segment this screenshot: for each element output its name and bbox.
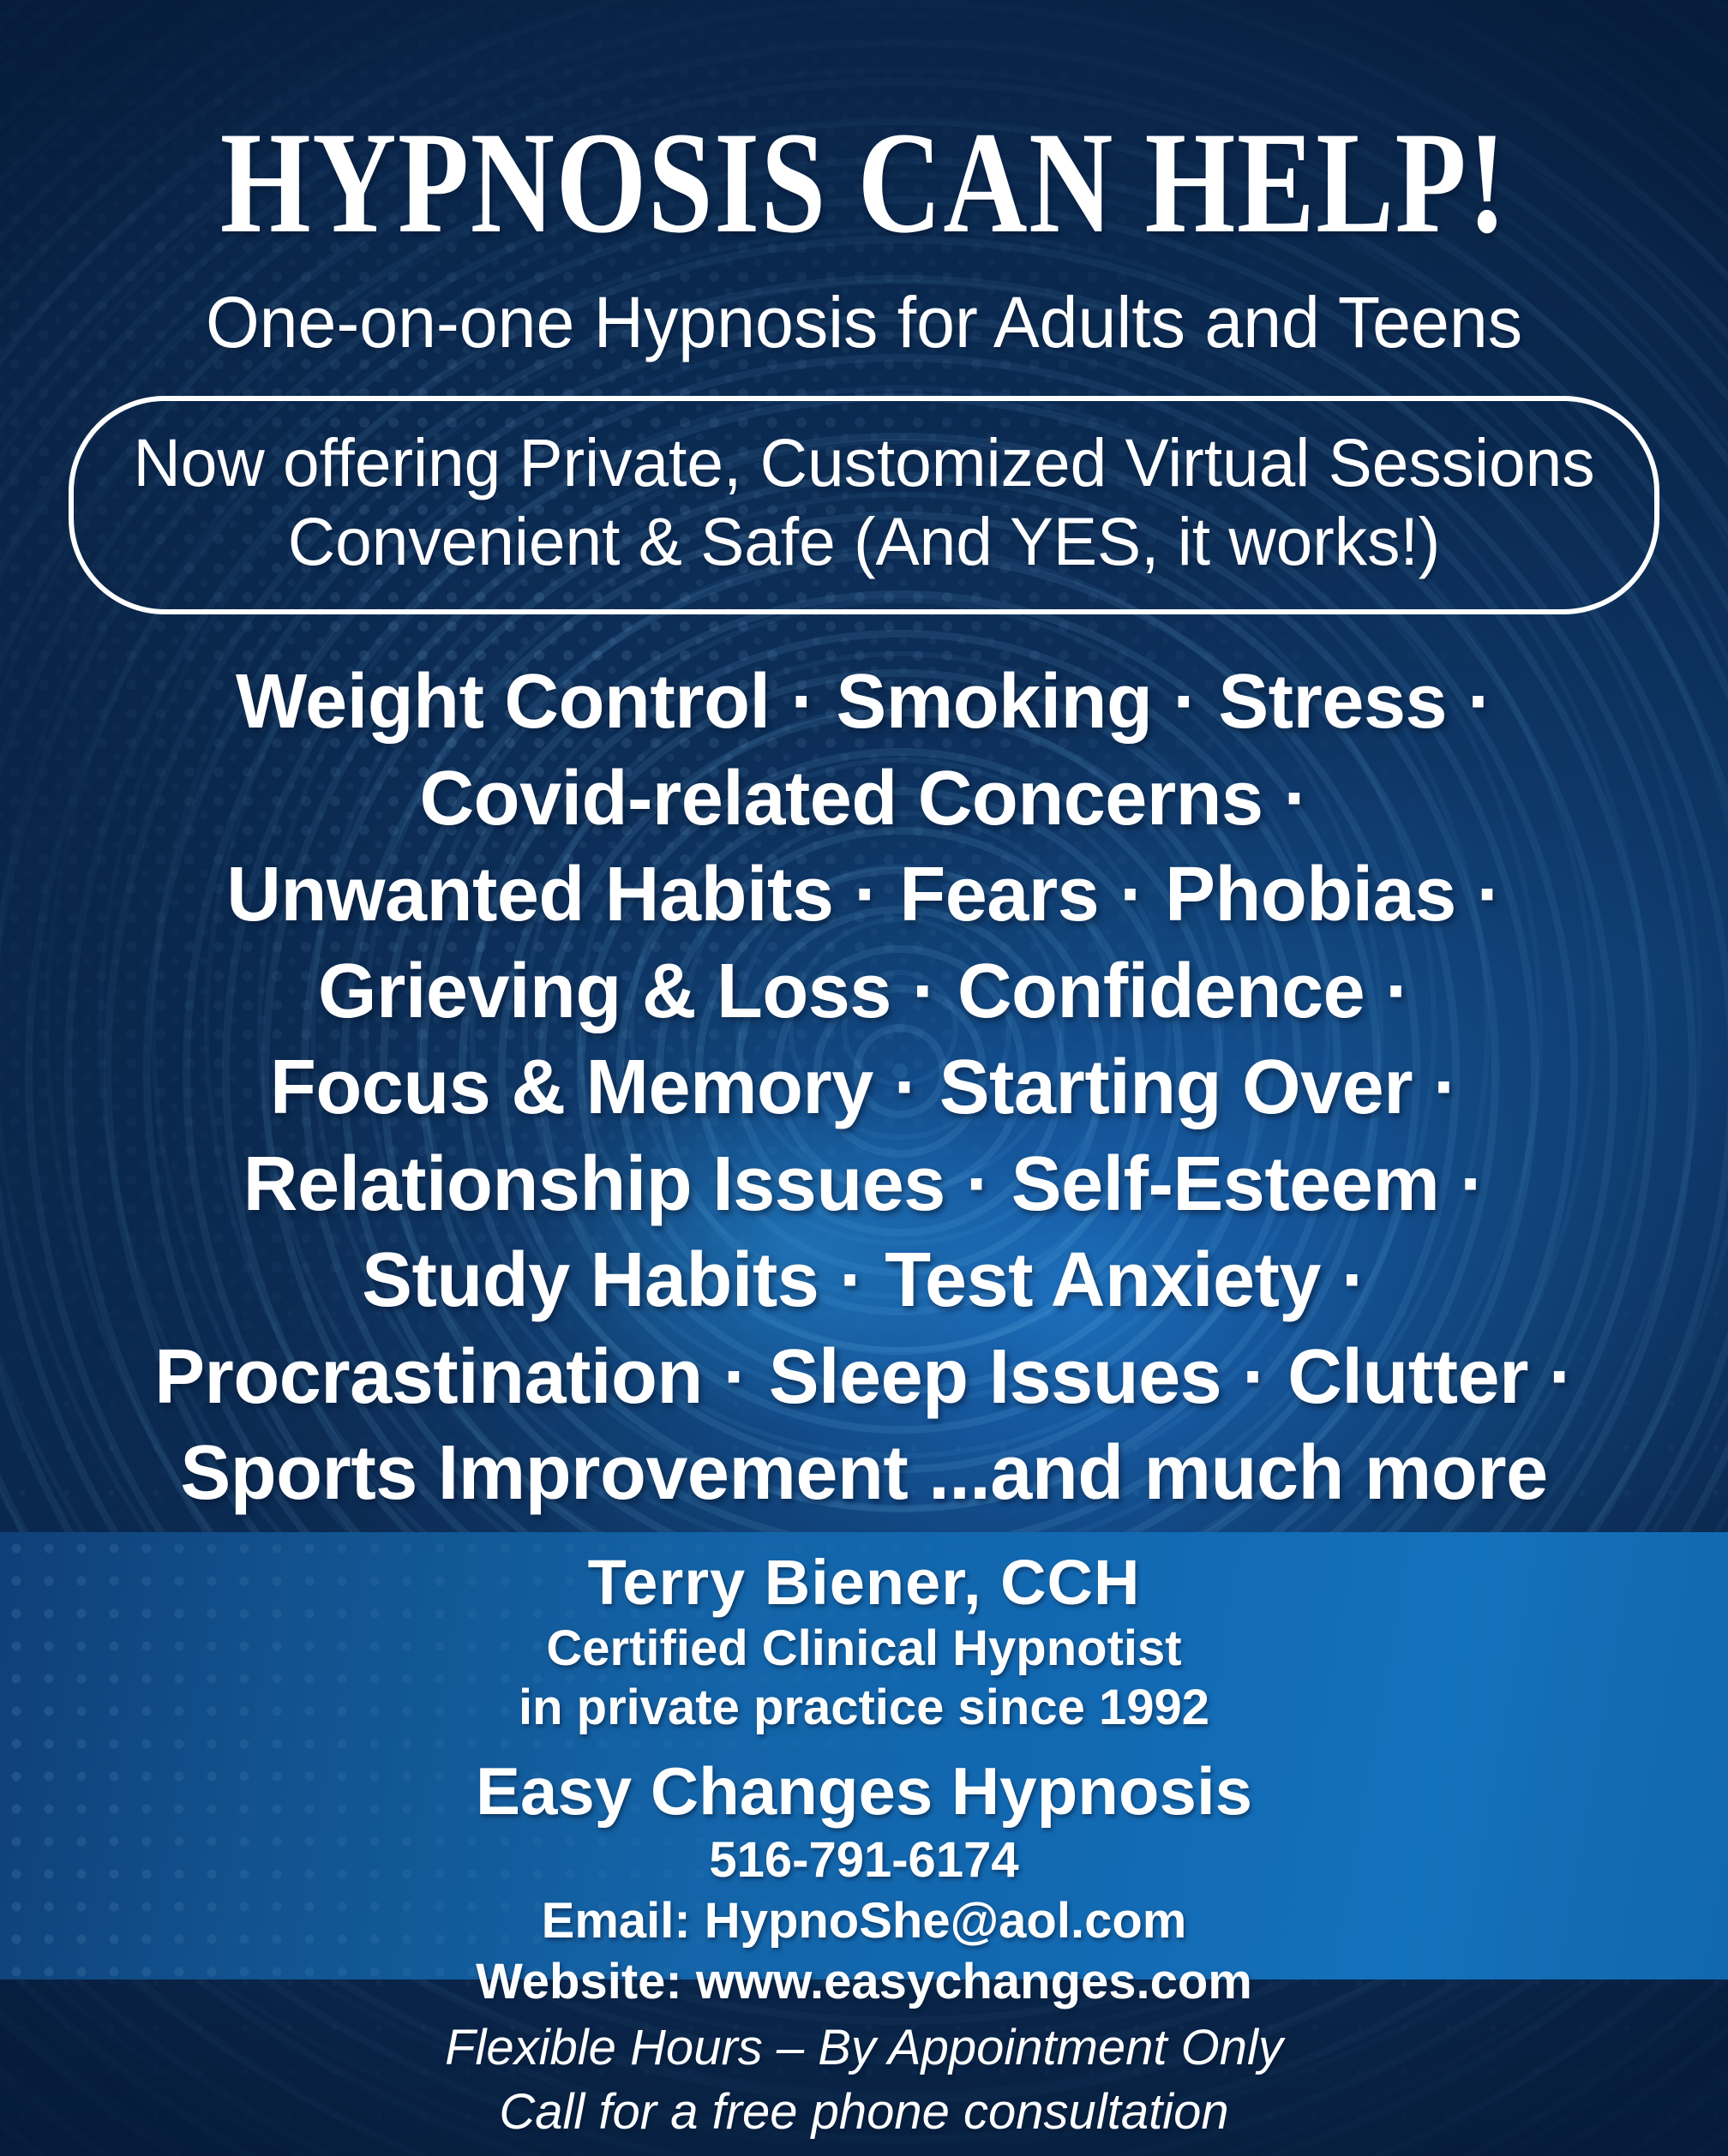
footer-line-hours: Flexible Hours – By Appointment Only [0,2015,1728,2080]
poster-content: HYPNOSIS CAN HELP! One-on-one Hypnosis f… [0,0,1728,1522]
website-url[interactable]: Website: www.easychanges.com [0,1952,1728,2013]
contact-information: Terry Biener, CCH Certified Clinical Hyp… [0,1532,1728,1979]
footer-line-consultation: Call for a free phone consultation [0,2080,1728,2144]
services-line: Focus & Memory · Starting Over · [17,1039,1711,1136]
practitioner-name: Terry Biener, CCH [0,1548,1728,1619]
services-line: Procrastination · Sleep Issues · Clutter… [17,1329,1711,1426]
virtual-sessions-line-1: Now offering Private, Customized Virtual… [130,423,1597,502]
hypnosis-advertisement-poster: HYPNOSIS CAN HELP! One-on-one Hypnosis f… [0,0,1728,2156]
services-line: Sports Improvement ...and much more [17,1425,1711,1522]
services-line: Weight Control · Smoking · Stress · [17,654,1711,751]
services-line: Covid-related Concerns · [17,751,1711,847]
services-line: Relationship Issues · Self-Esteem · [17,1136,1711,1233]
services-list: Weight Control · Smoking · Stress · Covi… [0,654,1728,1522]
services-line: Unwanted Habits · Fears · Phobias · [17,847,1711,943]
practitioner-credential: Certified Clinical Hypnotist [0,1619,1728,1679]
services-line: Grieving & Loss · Confidence · [17,943,1711,1040]
services-line: Study Habits · Test Anxiety · [17,1232,1711,1329]
business-name: Easy Changes Hypnosis [0,1752,1728,1830]
virtual-sessions-line-2: Convenient & Safe (And YES, it works!) [130,502,1597,581]
phone-number[interactable]: 516-791-6174 [0,1830,1728,1891]
practitioner-experience: in private practice since 1992 [0,1678,1728,1738]
email-address[interactable]: Email: HypnoShe@aol.com [0,1891,1728,1952]
virtual-sessions-callout-box: Now offering Private, Customized Virtual… [69,396,1659,614]
page-subtitle: One-on-one Hypnosis for Adults and Teens [34,286,1693,358]
page-title: HYPNOSIS CAN HELP! [173,0,1556,255]
footer-note: Flexible Hours – By Appointment Only Cal… [0,2015,1728,2145]
